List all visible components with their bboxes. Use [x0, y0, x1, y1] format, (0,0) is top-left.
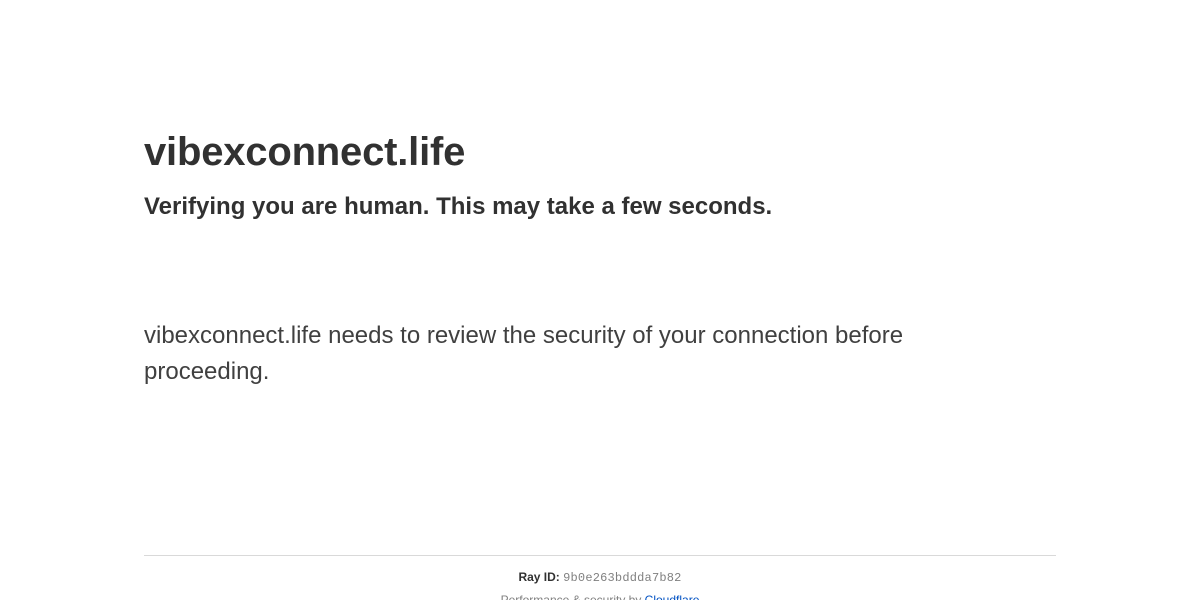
challenge-widget-slot[interactable]	[144, 222, 1056, 318]
footer: Ray ID: 9b0e263bddda7b82 Performance & s…	[144, 555, 1056, 600]
footer-credit-prefix: Performance & security by	[501, 593, 645, 600]
ray-id-label: Ray ID:	[518, 570, 559, 584]
challenge-page: vibexconnect.life Verifying you are huma…	[0, 0, 1200, 600]
verification-status-text: Verifying you are human. This may take a…	[144, 176, 1056, 222]
security-review-message: vibexconnect.life needs to review the se…	[144, 318, 944, 390]
ray-id-value: 9b0e263bddda7b82	[563, 571, 681, 585]
page-title: vibexconnect.life	[144, 128, 1056, 176]
cloudflare-link[interactable]: Cloudflare	[645, 593, 700, 600]
footer-inner: Ray ID: 9b0e263bddda7b82 Performance & s…	[144, 556, 1056, 600]
footer-credit-line: Performance & security by Cloudflare	[144, 586, 1056, 600]
main-wrap: vibexconnect.life Verifying you are huma…	[144, 0, 1056, 390]
ray-id-line: Ray ID: 9b0e263bddda7b82	[144, 570, 1056, 586]
main-content: vibexconnect.life Verifying you are huma…	[144, 0, 1056, 390]
